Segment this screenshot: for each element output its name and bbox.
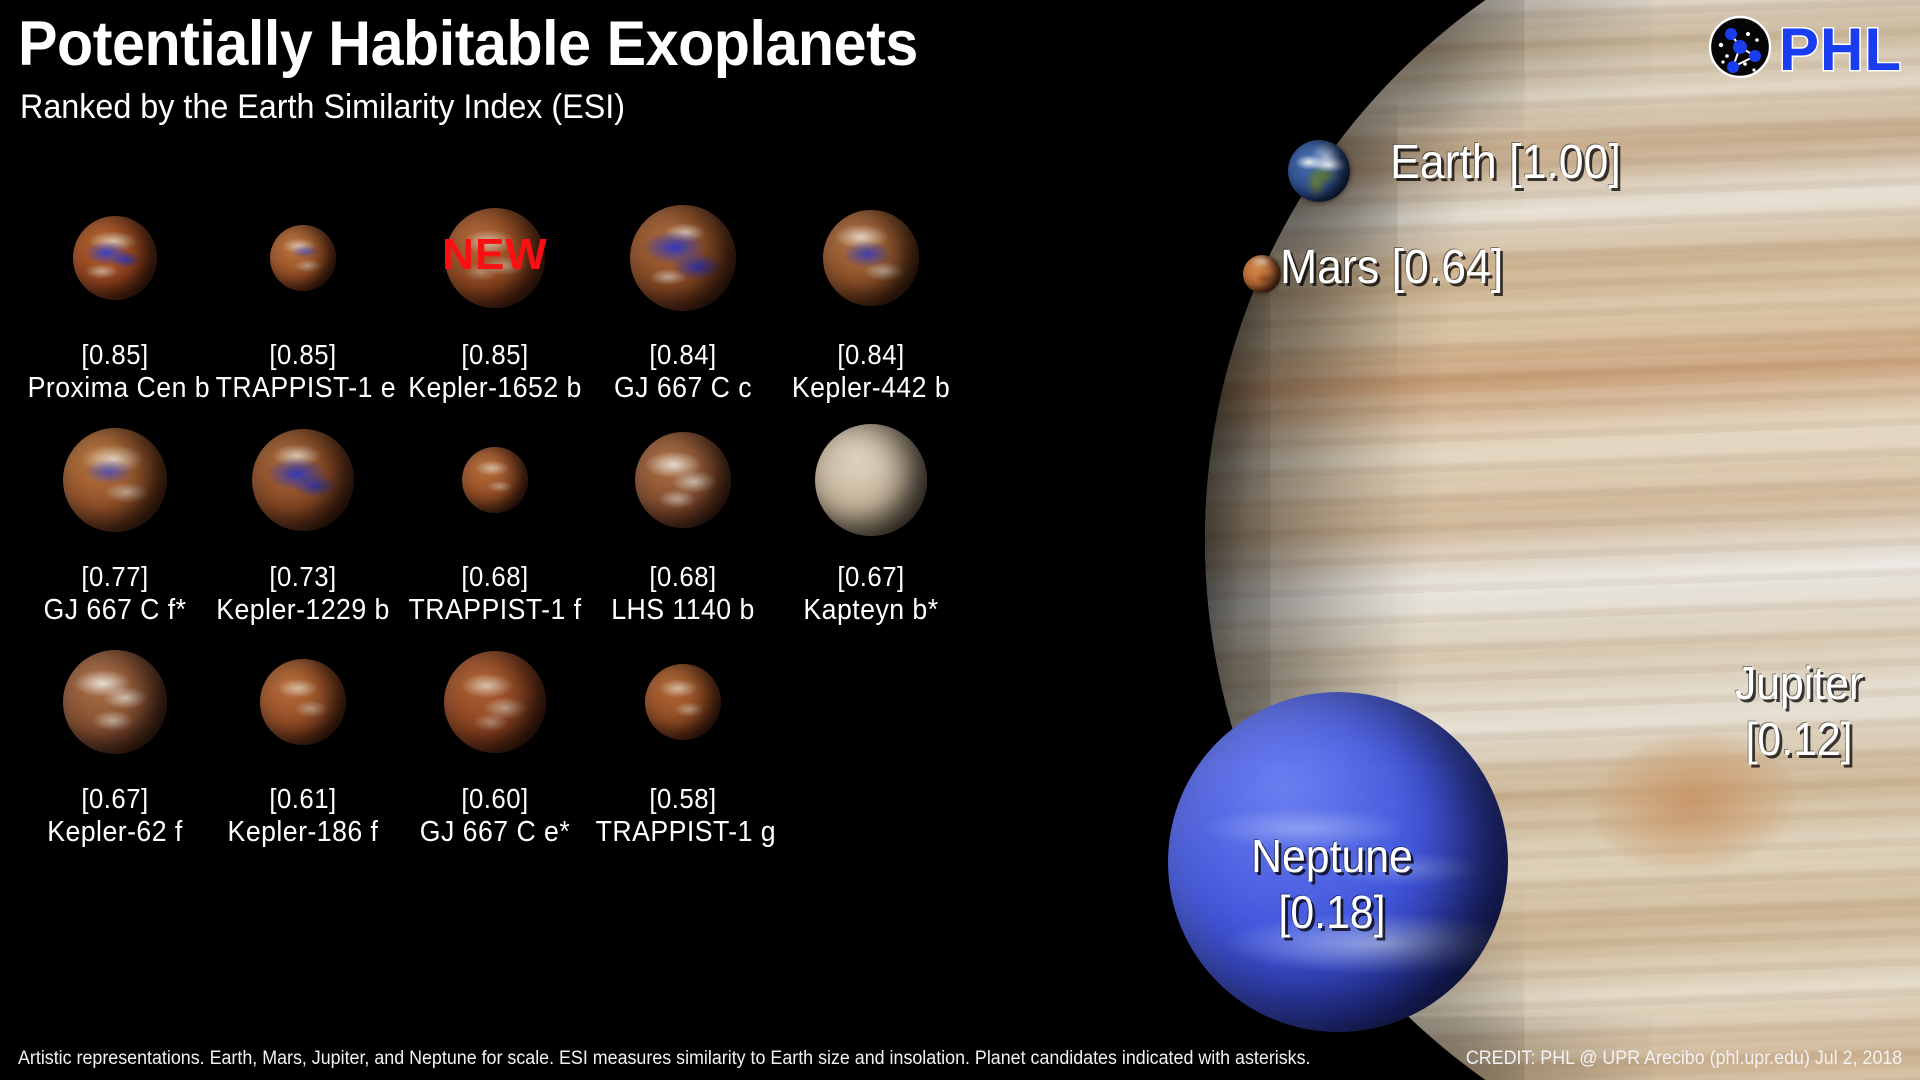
- mars-label: Mars [0.64]: [1280, 240, 1503, 295]
- exoplanet-cell: [0.68]LHS 1140 b: [588, 400, 778, 627]
- exoplanet-image-wrap: [400, 400, 590, 560]
- exoplanet-image-wrap: [776, 400, 966, 560]
- exoplanet-esi: [0.68]: [596, 560, 771, 593]
- new-badge: NEW: [400, 230, 590, 280]
- exoplanet-sphere: [252, 429, 354, 531]
- exoplanet-cell: [0.84]Kepler-442 b: [776, 178, 966, 405]
- exoplanet-esi: [0.58]: [596, 782, 771, 815]
- footer-credit: CREDIT: PHL @ UPR Arecibo (phl.upr.edu) …: [1466, 1048, 1902, 1070]
- phl-logo-text: PHL: [1779, 20, 1902, 80]
- exoplanet-esi: [0.84]: [596, 338, 771, 371]
- mars-planet: [1243, 255, 1281, 293]
- exoplanet-sphere: [823, 210, 919, 306]
- exoplanet-sphere: [815, 424, 927, 536]
- jupiter-name: Jupiter: [1735, 657, 1863, 709]
- exoplanet-image-wrap: [776, 178, 966, 338]
- exoplanet-cell: [0.61]Kepler-186 f: [208, 622, 398, 849]
- exoplanet-cell: [0.68]TRAPPIST-1 f: [400, 400, 590, 627]
- footer-note: Artistic representations. Earth, Mars, J…: [18, 1048, 1311, 1070]
- exoplanet-image-wrap: [588, 622, 778, 782]
- neptune-name: Neptune: [1251, 830, 1413, 882]
- exoplanet-image-wrap: [588, 400, 778, 560]
- exoplanet-cell: [0.73]Kepler-1229 b: [208, 400, 398, 627]
- exoplanet-cell: [0.77]GJ 667 C f*: [20, 400, 210, 627]
- exoplanet-esi: [0.67]: [784, 560, 959, 593]
- neptune-label: Neptune [0.18]: [1251, 828, 1413, 940]
- exoplanet-cell: [0.67]Kapteyn b*: [776, 400, 966, 627]
- earth-label: Earth [1.00]: [1390, 135, 1621, 190]
- exoplanet-image-wrap: [20, 622, 210, 782]
- exoplanet-cell: [0.58]TRAPPIST-1 g: [588, 622, 778, 849]
- exoplanet-sphere: [635, 432, 731, 528]
- exoplanet-esi: [0.77]: [28, 560, 203, 593]
- earth-planet: [1288, 140, 1350, 202]
- exoplanet-esi: [0.85]: [408, 338, 583, 371]
- exoplanet-sphere: [444, 651, 546, 753]
- exoplanet-sphere: [73, 216, 157, 300]
- exoplanet-esi: [0.85]: [216, 338, 391, 371]
- phl-network-circle-icon: [1707, 14, 1773, 85]
- exoplanet-name: TRAPPIST-1 g: [596, 815, 771, 849]
- jupiter-label: Jupiter [0.12]: [1735, 655, 1863, 767]
- exoplanet-image-wrap: [588, 178, 778, 338]
- exoplanet-sphere: [630, 205, 736, 311]
- exoplanet-name: Kapteyn b*: [784, 593, 959, 627]
- exoplanet-esi: [0.85]: [28, 338, 203, 371]
- page-title: Potentially Habitable Exoplanets: [18, 8, 918, 80]
- neptune-esi: [0.18]: [1278, 886, 1385, 938]
- exoplanet-name: Kepler-62 f: [28, 815, 203, 849]
- exoplanet-image-wrap: NEW: [400, 178, 590, 338]
- exoplanet-esi: [0.73]: [216, 560, 391, 593]
- exoplanet-cell: NEW[0.85]Kepler-1652 b: [400, 178, 590, 405]
- exoplanet-cell: [0.85]TRAPPIST-1 e: [208, 178, 398, 405]
- exoplanet-name: Kepler-186 f: [216, 815, 391, 849]
- exoplanet-cell: [0.67]Kepler-62 f: [20, 622, 210, 849]
- jupiter-esi: [0.12]: [1746, 713, 1853, 765]
- exoplanet-esi: [0.61]: [216, 782, 391, 815]
- exoplanet-sphere: [260, 659, 346, 745]
- exoplanet-image-wrap: [208, 622, 398, 782]
- page-subtitle: Ranked by the Earth Similarity Index (ES…: [20, 88, 625, 127]
- exoplanet-sphere: [462, 447, 528, 513]
- exoplanet-cell: [0.85]Proxima Cen b: [20, 178, 210, 405]
- exoplanet-sphere: [270, 225, 336, 291]
- exoplanet-image-wrap: [400, 622, 590, 782]
- exoplanet-cell: [0.84]GJ 667 C c: [588, 178, 778, 405]
- infographic-canvas: Potentially Habitable Exoplanets Ranked …: [0, 0, 1920, 1080]
- exoplanet-sphere: [63, 428, 167, 532]
- exoplanet-esi: [0.68]: [408, 560, 583, 593]
- exoplanet-cell: [0.60]GJ 667 C e*: [400, 622, 590, 849]
- exoplanet-image-wrap: [20, 178, 210, 338]
- exoplanet-name: GJ 667 C e*: [408, 815, 583, 849]
- exoplanet-esi: [0.60]: [408, 782, 583, 815]
- exoplanet-sphere: [645, 664, 721, 740]
- exoplanet-sphere: [63, 650, 167, 754]
- exoplanet-esi: [0.84]: [784, 338, 959, 371]
- exoplanet-image-wrap: [208, 178, 398, 338]
- exoplanet-esi: [0.67]: [28, 782, 203, 815]
- exoplanet-image-wrap: [208, 400, 398, 560]
- exoplanet-image-wrap: [20, 400, 210, 560]
- phl-logo: PHL: [1707, 14, 1902, 85]
